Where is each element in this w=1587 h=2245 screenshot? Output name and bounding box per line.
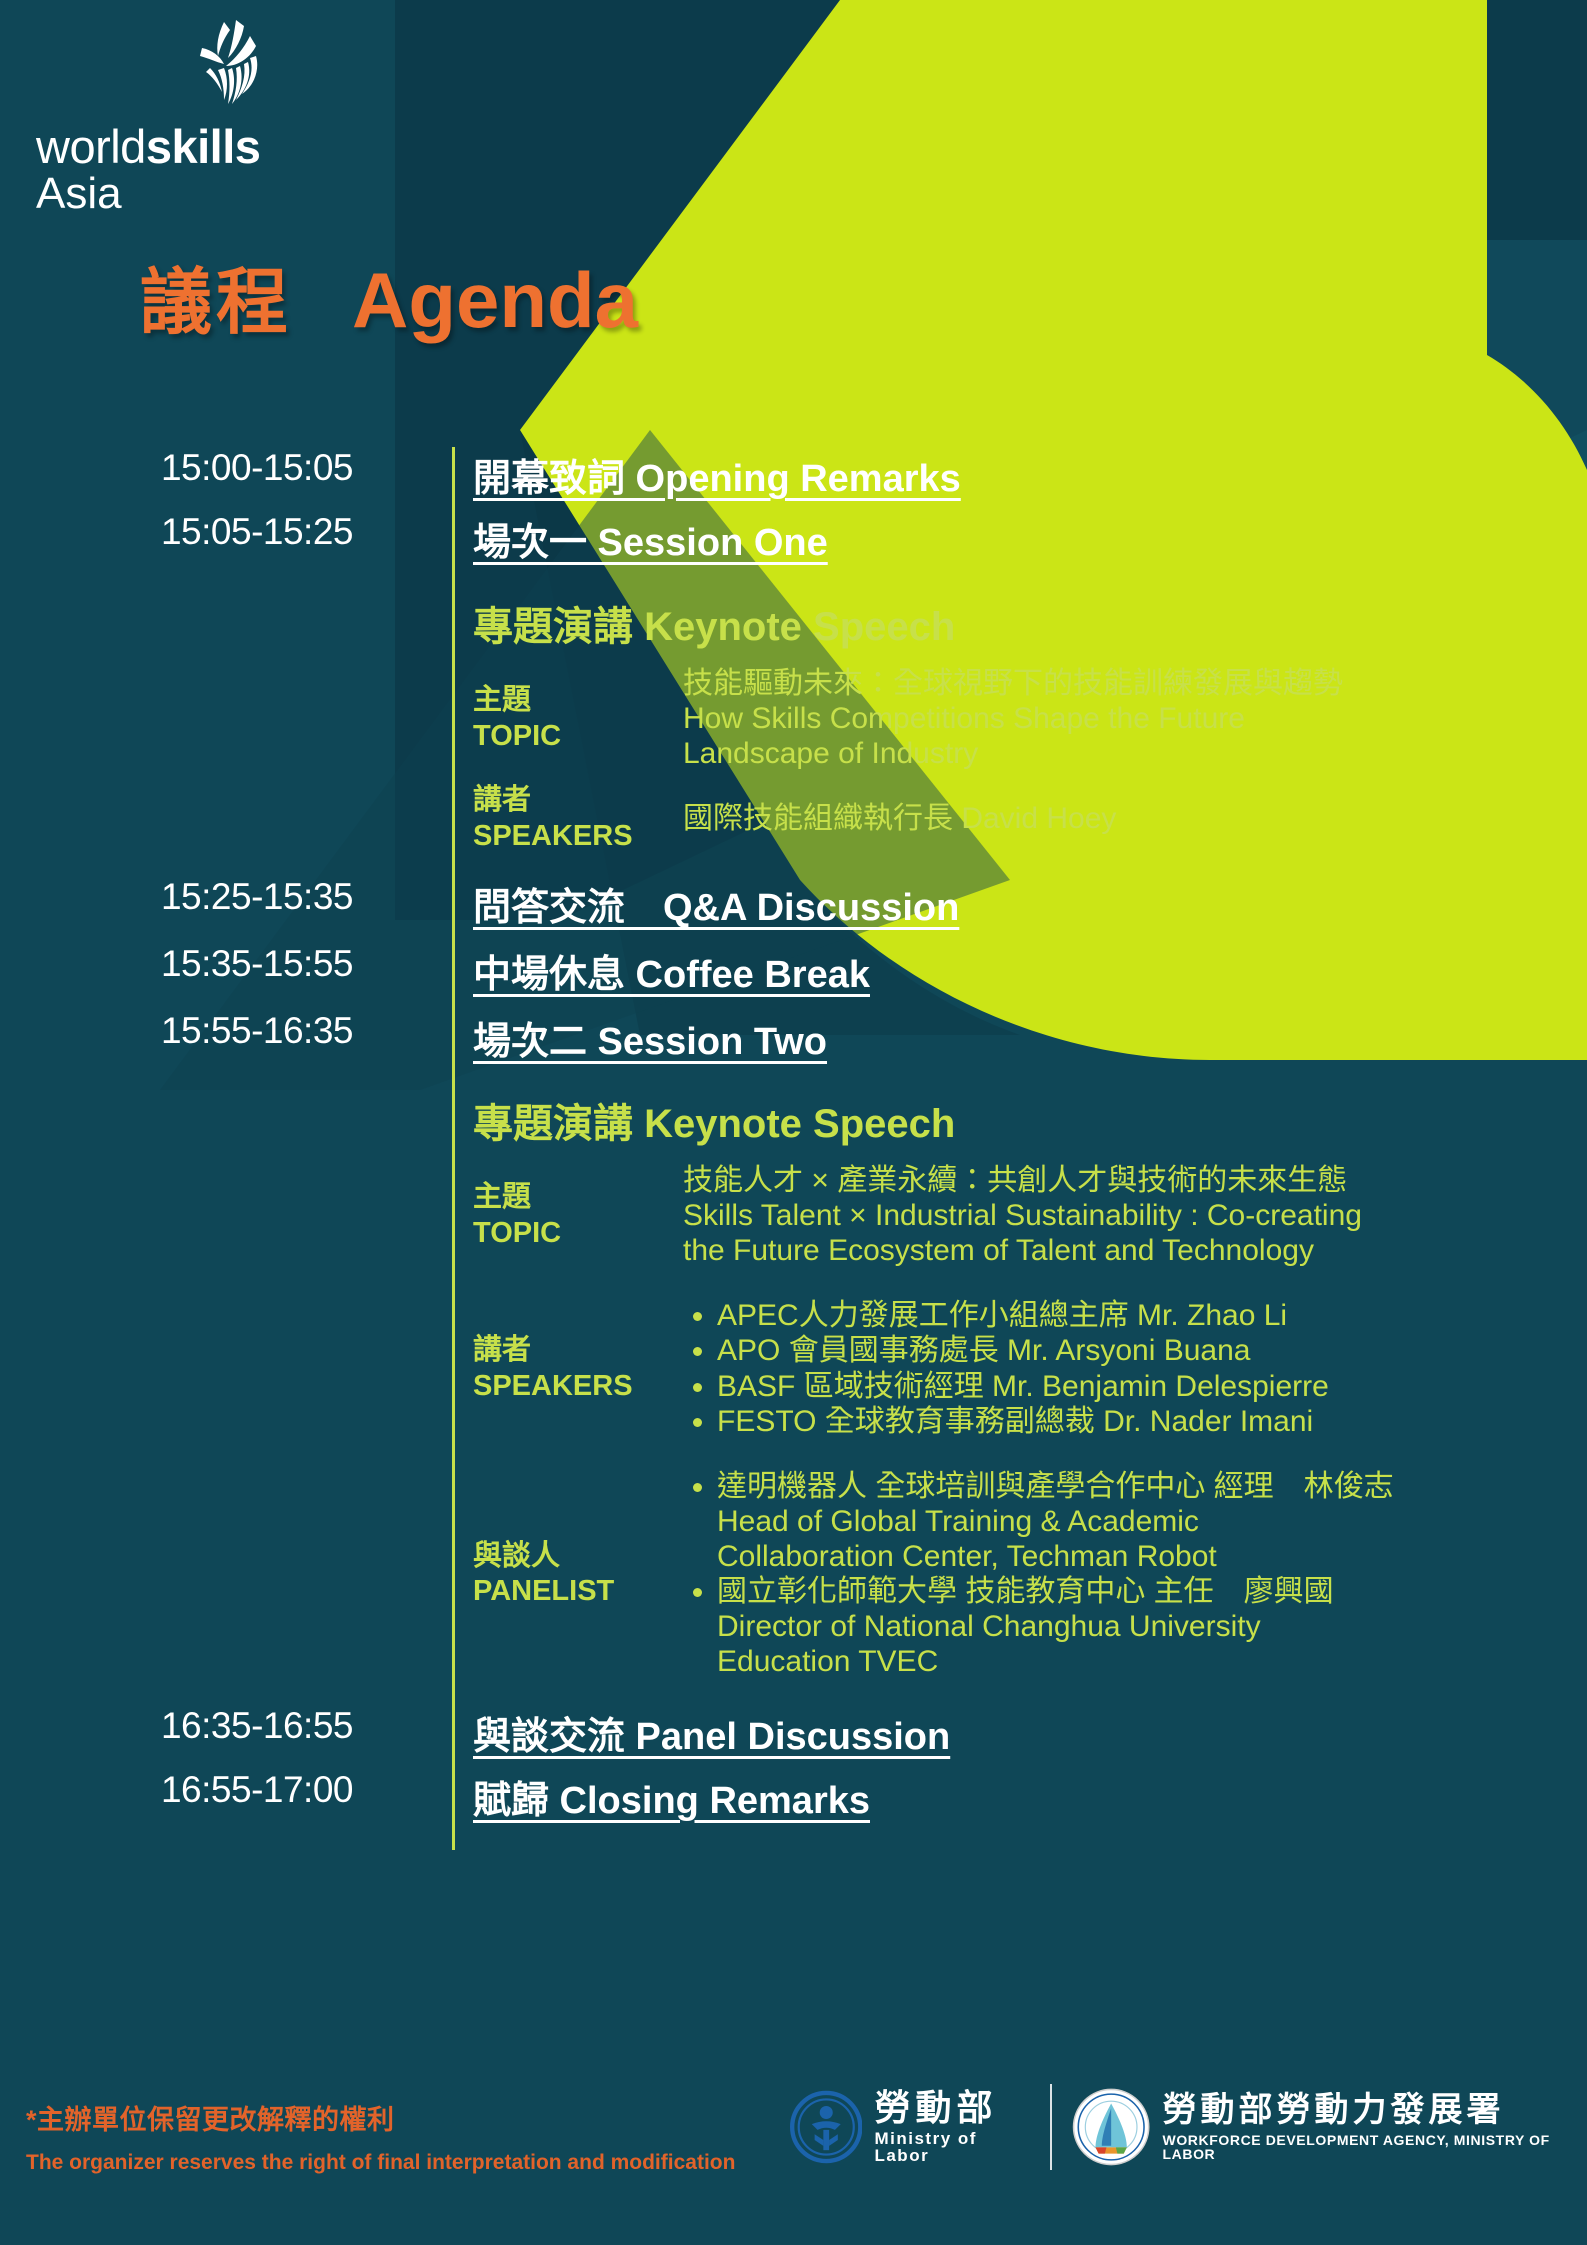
- field-value-line: 國際技能組織執行長 David Hoey: [683, 801, 1587, 836]
- field-value: 技能人才 × 產業永續：共創人才與技術的未來生態Skills Talent × …: [683, 1163, 1587, 1268]
- agenda-list: 15:00-15:05開幕致詞 Opening Remarks 15:05-15…: [0, 447, 1587, 1824]
- agenda-row: 16:35-16:55與談交流 Panel Discussion: [0, 1705, 1587, 1760]
- field-label-zh: 主題: [473, 1180, 683, 1215]
- field-label: 主題TOPIC: [473, 683, 683, 754]
- field-value-line: the Future Ecosystem of Talent and Techn…: [683, 1233, 1587, 1268]
- agenda-content: 開幕致詞 Opening Remarks: [400, 447, 1587, 502]
- agenda-time: 15:55-16:35: [0, 1010, 400, 1052]
- bullet-sub: Collaboration Center, Techman Robot: [717, 1539, 1587, 1574]
- agenda-poster: worldskills Asia 議程 Agenda 15:00-15:05開幕…: [0, 0, 1587, 2245]
- disclaimer: *主辦單位保留更改解釋的權利 The organizer reserves th…: [26, 2098, 735, 2175]
- agenda-row: 專題演講 Keynote Speech主題TOPIC技能人才 × 產業永續：共創…: [0, 1091, 1587, 1679]
- worldskills-asia-logo: worldskills Asia: [36, 18, 336, 216]
- agenda-time: 15:25-15:35: [0, 876, 400, 918]
- field-label-en: TOPIC: [473, 1216, 683, 1251]
- agenda-row: 16:55-17:00賦歸 Closing Remarks: [0, 1769, 1587, 1824]
- field-bullet-item: APEC人力發展工作小組總主席 Mr. Zhao Li: [717, 1298, 1587, 1333]
- wda-zh: 勞動部勞動力發展署: [1163, 2093, 1587, 2127]
- bullet-sub: Director of National Changhua University: [717, 1609, 1587, 1644]
- agenda-row: 專題演講 Keynote Speech主題TOPIC技能驅動未來：全球視野下的技…: [0, 594, 1587, 854]
- field-bullet-list: 達明機器人 全球培訓與產學合作中心 經理 林俊志Head of Global T…: [683, 1469, 1587, 1680]
- field-value-line: 技能人才 × 產業永續：共創人才與技術的未來生態: [683, 1163, 1587, 1198]
- ministry-of-labor-zh: 勞動部: [874, 2090, 1030, 2126]
- worldskills-flame-icon: [166, 18, 286, 128]
- agenda-content: 中場休息 Coffee Break: [400, 943, 1587, 998]
- agenda-time: 16:35-16:55: [0, 1705, 400, 1747]
- field-label: 與談人PANELIST: [473, 1539, 683, 1610]
- field-value: 國際技能組織執行長 David Hoey: [683, 801, 1587, 836]
- agenda-time: 15:35-15:55: [0, 943, 400, 985]
- field-bullet-list: APEC人力發展工作小組總主席 Mr. Zhao LiAPO 會員國事務處長 M…: [683, 1298, 1587, 1438]
- bullet-main: FESTO 全球教育事務副總裁 Dr. Nader Imani: [717, 1405, 1313, 1438]
- ministry-of-labor-text: 勞動部 Ministry of Labor: [874, 2090, 1030, 2164]
- field-label: 主題TOPIC: [473, 1180, 683, 1251]
- field-label-en: SPEAKERS: [473, 1369, 683, 1404]
- workforce-development-agency-logo: 勞動部勞動力發展署 WORKFORCE DEVELOPMENT AGENCY, …: [1072, 2086, 1587, 2168]
- bullet-main: 達明機器人 全球培訓與產學合作中心 經理 林俊志: [717, 1470, 1394, 1503]
- agenda-content: 專題演講 Keynote Speech主題TOPIC技能人才 × 產業永續：共創…: [400, 1091, 1587, 1679]
- page-title-zh: 議程: [140, 243, 292, 348]
- page-title: 議程 Agenda: [140, 243, 638, 348]
- disclaimer-zh: *主辦單位保留更改解釋的權利: [26, 2098, 735, 2137]
- footer-logos: 勞動部 Ministry of Labor 勞動部勞動力發展署: [790, 2084, 1587, 2170]
- agenda-heading: 場次一 Session One: [473, 511, 1587, 566]
- agenda-content: 問答交流 Q&A Discussion: [400, 876, 1587, 931]
- field-value-line: 技能驅動未來：全球視野下的技能訓練發展與趨勢: [683, 666, 1587, 701]
- agenda-content: 場次二 Session Two: [400, 1010, 1587, 1065]
- page-title-en: Agenda: [352, 255, 638, 346]
- field-value-line: Skills Talent × Industrial Sustainabilit…: [683, 1198, 1587, 1233]
- field-label: 講者SPEAKERS: [473, 1333, 683, 1404]
- agenda-heading: 場次二 Session Two: [473, 1010, 1587, 1065]
- agenda-row: 15:35-15:55中場休息 Coffee Break: [0, 943, 1587, 998]
- agenda-content: 賦歸 Closing Remarks: [400, 1769, 1587, 1824]
- agenda-time: 16:55-17:00: [0, 1769, 400, 1811]
- agenda-row: 15:00-15:05開幕致詞 Opening Remarks: [0, 447, 1587, 502]
- field-bullet-item: 達明機器人 全球培訓與產學合作中心 經理 林俊志Head of Global T…: [717, 1469, 1587, 1574]
- bullet-main: APO 會員國事務處長 Mr. Arsyoni Buana: [717, 1334, 1250, 1367]
- ministry-of-labor-logo: 勞動部 Ministry of Labor: [790, 2089, 1030, 2165]
- bullet-main: APEC人力發展工作小組總主席 Mr. Zhao Li: [717, 1299, 1287, 1332]
- agenda-content: 專題演講 Keynote Speech主題TOPIC技能驅動未來：全球視野下的技…: [400, 594, 1587, 854]
- bullet-sub: Education TVEC: [717, 1644, 1587, 1679]
- wda-seal-icon: [1072, 2086, 1150, 2168]
- wda-en: WORKFORCE DEVELOPMENT AGENCY, MINISTRY O…: [1163, 2133, 1587, 2161]
- bullet-main: 國立彰化師範大學 技能教育中心 主任 廖興國: [717, 1575, 1334, 1608]
- field-label-zh: 講者: [473, 1333, 683, 1368]
- agenda-content: 與談交流 Panel Discussion: [400, 1705, 1587, 1760]
- logo-wordmark: worldskills: [36, 124, 336, 170]
- agenda-time: 15:00-15:05: [0, 447, 400, 489]
- agenda-row: 15:55-16:35場次二 Session Two: [0, 1010, 1587, 1065]
- logo-separator: [1050, 2084, 1052, 2170]
- logo-word-skills: skills: [146, 120, 261, 173]
- ministry-of-labor-en: Ministry of Labor: [874, 2130, 1030, 2164]
- agenda-heading: 問答交流 Q&A Discussion: [473, 876, 1587, 931]
- agenda-content: 場次一 Session One: [400, 511, 1587, 566]
- agenda-field: 講者SPEAKERSAPEC人力發展工作小組總主席 Mr. Zhao LiAPO…: [473, 1298, 1587, 1438]
- agenda-heading: 中場休息 Coffee Break: [473, 943, 1587, 998]
- field-bullet-item: BASF 區域技術經理 Mr. Benjamin Delespierre: [717, 1369, 1587, 1404]
- disclaimer-en: The organizer reserves the right of fina…: [26, 2151, 735, 2175]
- logo-word-asia: Asia: [36, 172, 336, 216]
- field-label-en: TOPIC: [473, 719, 683, 754]
- agenda-heading: 開幕致詞 Opening Remarks: [473, 447, 1587, 502]
- field-value: APEC人力發展工作小組總主席 Mr. Zhao LiAPO 會員國事務處長 M…: [683, 1298, 1587, 1438]
- field-value: 技能驅動未來：全球視野下的技能訓練發展與趨勢How Skills Competi…: [683, 666, 1587, 771]
- agenda-field: 與談人PANELIST達明機器人 全球培訓與產學合作中心 經理 林俊志Head …: [473, 1469, 1587, 1680]
- field-label-en: SPEAKERS: [473, 819, 683, 854]
- keynote-heading: 專題演講 Keynote Speech: [473, 594, 1587, 652]
- agenda-row: 15:25-15:35問答交流 Q&A Discussion: [0, 876, 1587, 931]
- field-label-zh: 主題: [473, 683, 683, 718]
- field-value: 達明機器人 全球培訓與產學合作中心 經理 林俊志Head of Global T…: [683, 1469, 1587, 1680]
- agenda-heading: 賦歸 Closing Remarks: [473, 1769, 1587, 1824]
- agenda-field: 講者SPEAKERS國際技能組織執行長 David Hoey: [473, 783, 1587, 854]
- bullet-sub: Head of Global Training & Academic: [717, 1504, 1587, 1539]
- ministry-of-labor-seal-icon: [790, 2089, 862, 2165]
- field-value-line: Landscape of Industry: [683, 736, 1587, 771]
- vertical-divider: [452, 447, 455, 1850]
- logo-word-world: world: [36, 120, 146, 173]
- field-label-zh: 與談人: [473, 1539, 683, 1574]
- field-bullet-item: 國立彰化師範大學 技能教育中心 主任 廖興國Director of Nation…: [717, 1574, 1587, 1679]
- agenda-row: 15:05-15:25場次一 Session One: [0, 511, 1587, 566]
- agenda-heading: 與談交流 Panel Discussion: [473, 1705, 1587, 1760]
- field-label: 講者SPEAKERS: [473, 783, 683, 854]
- wda-text: 勞動部勞動力發展署 WORKFORCE DEVELOPMENT AGENCY, …: [1163, 2093, 1587, 2161]
- field-label-zh: 講者: [473, 783, 683, 818]
- keynote-heading: 專題演講 Keynote Speech: [473, 1091, 1587, 1149]
- field-bullet-item: FESTO 全球教育事務副總裁 Dr. Nader Imani: [717, 1404, 1587, 1439]
- agenda-time: 15:05-15:25: [0, 511, 400, 553]
- field-label-en: PANELIST: [473, 1574, 683, 1609]
- footer: *主辦單位保留更改解釋的權利 The organizer reserves th…: [0, 2060, 1587, 2245]
- field-bullet-item: APO 會員國事務處長 Mr. Arsyoni Buana: [717, 1333, 1587, 1368]
- agenda-field: 主題TOPIC技能人才 × 產業永續：共創人才與技術的未來生態Skills Ta…: [473, 1163, 1587, 1268]
- field-value-line: How Skills Competitions Shape the Future: [683, 701, 1587, 736]
- bullet-main: BASF 區域技術經理 Mr. Benjamin Delespierre: [717, 1370, 1329, 1403]
- agenda-field: 主題TOPIC技能驅動未來：全球視野下的技能訓練發展與趨勢How Skills …: [473, 666, 1587, 771]
